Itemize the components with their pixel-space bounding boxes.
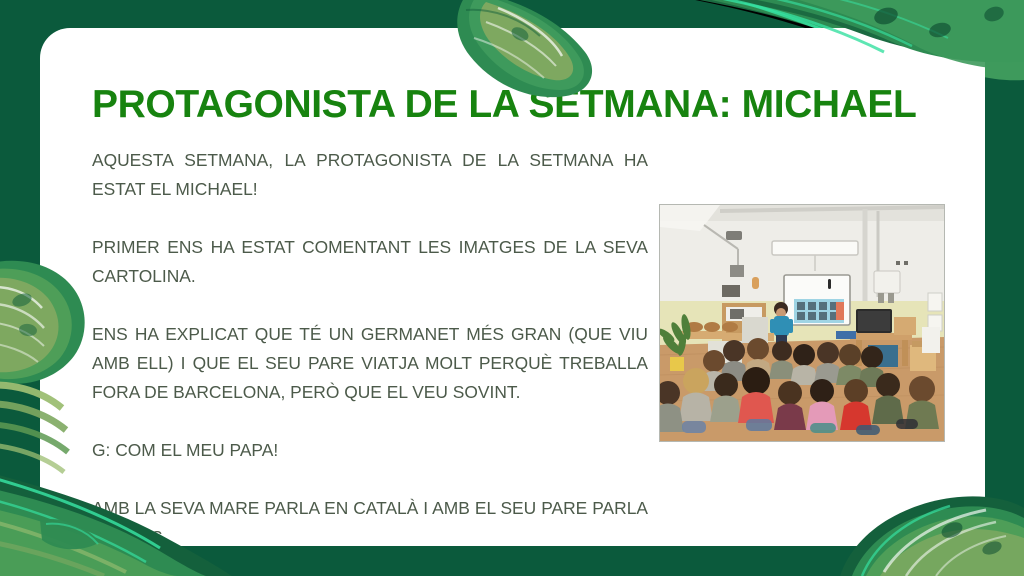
body-text-block: AQUESTA SETMANA, LA PROTAGONISTA DE LA S… [92,146,648,552]
photo-illustration [660,205,944,441]
paragraph: AMB LA SEVA MARE PARLA EN CATALÀ I AMB E… [92,494,648,552]
paragraph: PRIMER ENS HA ESTAT COMENTANT LES IMATGE… [92,233,648,291]
page-title: PROTAGONISTA DE LA SETMANA: MICHAEL [92,83,952,127]
classroom-presentation-photo [660,205,944,441]
paragraph: ENS HA EXPLICAT QUE TÉ UN GERMANET MÉS G… [92,320,648,407]
slide-canvas: PROTAGONISTA DE LA SETMANA: MICHAEL AQUE… [0,0,1024,576]
paragraph: AQUESTA SETMANA, LA PROTAGONISTA DE LA S… [92,146,648,204]
paragraph: G: COM EL MEU PAPA! [92,436,648,465]
photo-content [660,205,944,441]
content-card: PROTAGONISTA DE LA SETMANA: MICHAEL AQUE… [40,28,985,546]
